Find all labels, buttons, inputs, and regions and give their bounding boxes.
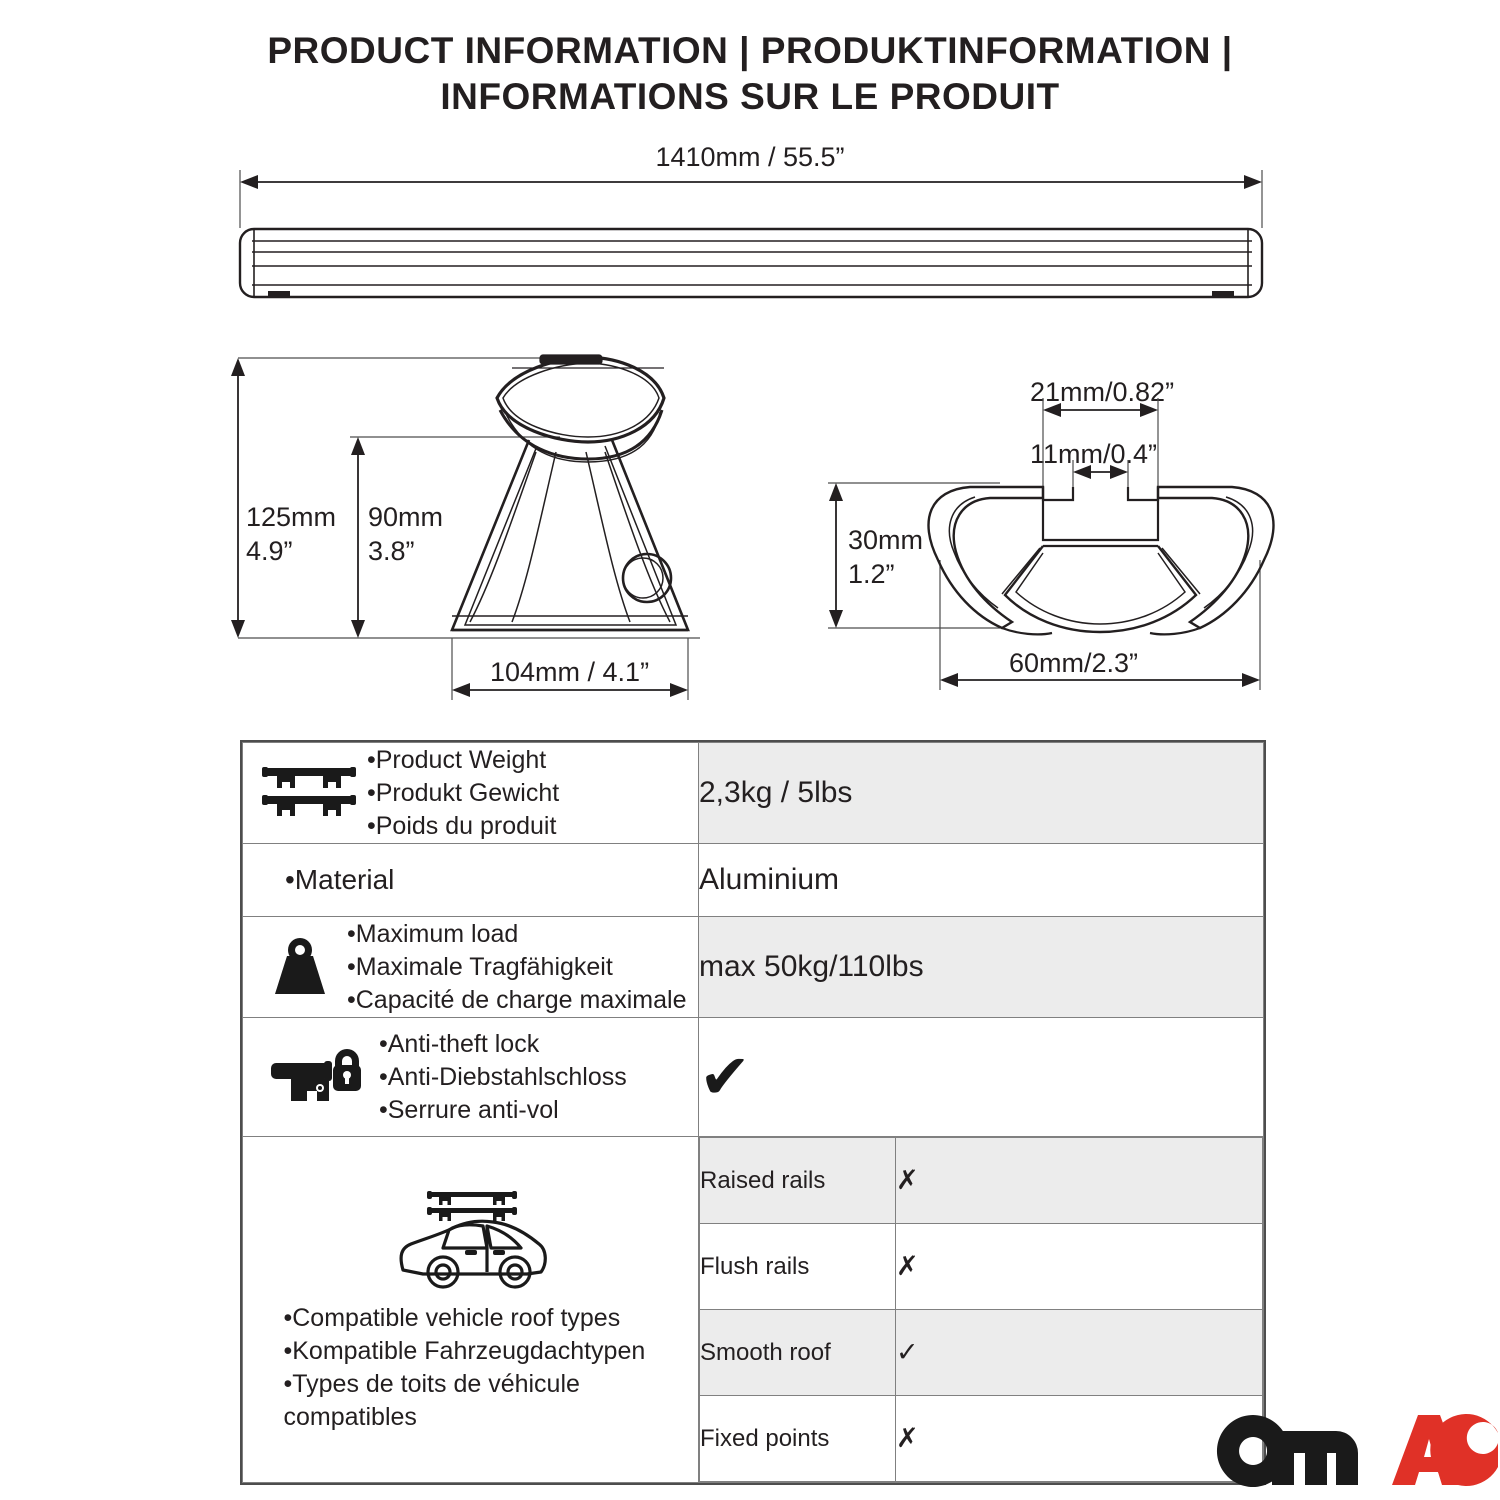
crossbars-icon [261,764,357,822]
page-title-line-2: INFORMATIONS SUR LE PRODUIT [0,74,1500,120]
roof-type-mark-smooth-roof: ✓ [896,1310,1263,1396]
crossbar-length-drawing [240,170,1262,297]
material-label-en: •Material [243,864,394,895]
cell-roof-types-label: •Compatible vehicle roof types •Kompatib… [243,1137,699,1483]
roof-types-label-de: •Kompatible Fahrzeugdachtypen [284,1335,674,1368]
dimension-label-bar-width: 60mm/2.3” [1009,646,1138,680]
cell-roof-types-matrix: Raised rails ✗ Flush rails ✗ Smooth roof… [699,1137,1264,1483]
lock-icon [269,1045,361,1109]
roof-type-label-raised-rails: Raised rails [700,1138,896,1224]
roof-type-mark-flush-rails: ✗ [896,1224,1263,1310]
roof-type-mark-fixed-points: ✗ [896,1396,1263,1482]
lock-label-en: •Anti-theft lock [379,1028,627,1061]
cell-material-value: Aluminium [699,844,1264,917]
roof-types-label-en: •Compatible vehicle roof types [284,1302,674,1335]
dim-125-mm: 125mm [246,502,336,532]
roof-type-label-fixed-points: Fixed points [700,1396,896,1482]
table-row-product-weight: •Product Weight •Produkt Gewicht •Poids … [243,743,1264,844]
car-roof-icon [387,1186,555,1298]
roof-type-row-flush-rails: Flush rails ✗ [700,1224,1263,1310]
table-row-anti-theft-lock: •Anti-theft lock •Anti-Diebstahlschloss … [243,1018,1264,1137]
max-load-label-de: •Maximale Tragfähigkeit [347,951,686,984]
max-load-value: max 50kg/110lbs [699,950,924,983]
weight-label-en: •Product Weight [367,744,559,777]
cell-max-load-label: •Maximum load •Maximale Tragfähigkeit •C… [243,917,699,1018]
roof-type-row-smooth-roof: Smooth roof ✓ [700,1310,1263,1396]
weight-value: 2,3kg / 5lbs [699,776,852,809]
weight-icon [267,936,333,998]
omac-logo [1216,1413,1498,1487]
dim-30-mm: 30mm [848,525,923,555]
page-title-line-1: PRODUCT INFORMATION | PRODUKTINFORMATION… [0,28,1500,74]
roof-type-mark-raised-rails: ✗ [896,1138,1263,1224]
cell-max-load-value: max 50kg/110lbs [699,917,1264,1018]
roof-type-row-fixed-points: Fixed points ✗ [700,1396,1263,1482]
dimension-label-tower-width: 104mm / 4.1” [490,655,649,689]
roof-type-row-raised-rails: Raised rails ✗ [700,1138,1263,1224]
dimension-label-slot-outer: 21mm/0.82” [1030,375,1174,409]
weight-label-de: •Produkt Gewicht [367,777,559,810]
cell-lock-value: ✔ [699,1018,1264,1137]
omac-logo-dark-mark [1217,1415,1358,1487]
roof-type-label-flush-rails: Flush rails [700,1224,896,1310]
specification-table: •Product Weight •Produkt Gewicht •Poids … [240,740,1266,1485]
page-title: PRODUCT INFORMATION | PRODUKTINFORMATION… [0,28,1500,120]
roof-types-label-fr: •Types de toits de véhicule compatibles [284,1368,674,1434]
omac-logo-accent-mark [1392,1414,1498,1486]
max-load-label-fr: •Capacité de charge maximale [347,984,686,1017]
dimension-label-tower-height-total: 125mm 4.9” [246,500,336,568]
lock-label-list: •Anti-theft lock •Anti-Diebstahlschloss … [379,1028,627,1127]
dimension-label-overall-length: 1410mm / 55.5” [0,140,1500,174]
roof-type-label-smooth-roof: Smooth roof [700,1310,896,1396]
dim-90-in: 3.8” [368,536,415,566]
material-value: Aluminium [699,863,839,896]
table-row-material: •Material Aluminium [243,844,1264,917]
dimension-label-slot-inner: 11mm/0.4” [1030,437,1157,471]
table-row-roof-types: •Compatible vehicle roof types •Kompatib… [243,1137,1264,1483]
dim-30-in: 1.2” [848,559,895,589]
cell-weight-label: •Product Weight •Produkt Gewicht •Poids … [243,743,699,844]
dimension-label-bar-height: 30mm 1.2” [848,523,923,591]
roof-types-table: Raised rails ✗ Flush rails ✗ Smooth roof… [699,1137,1263,1482]
product-information-sheet: PRODUCT INFORMATION | PRODUKTINFORMATION… [0,0,1500,1500]
table-row-max-load: •Maximum load •Maximale Tragfähigkeit •C… [243,917,1264,1018]
weight-label-fr: •Poids du produit [367,810,559,843]
weight-label-list: •Product Weight •Produkt Gewicht •Poids … [367,744,559,843]
lock-label-de: •Anti-Diebstahlschloss [379,1061,627,1094]
max-load-label-en: •Maximum load [347,918,686,951]
dimension-label-tower-height-inner: 90mm 3.8” [368,500,443,568]
roof-types-label-list: •Compatible vehicle roof types •Kompatib… [268,1302,674,1434]
lock-label-fr: •Serrure anti-vol [379,1094,627,1127]
max-load-label-list: •Maximum load •Maximale Tragfähigkeit •C… [347,918,686,1017]
dim-125-in: 4.9” [246,536,293,566]
cell-material-label: •Material [243,844,699,917]
cell-lock-label: •Anti-theft lock •Anti-Diebstahlschloss … [243,1018,699,1137]
dim-90-mm: 90mm [368,502,443,532]
cell-weight-value: 2,3kg / 5lbs [699,743,1264,844]
lock-check-mark: ✔ [699,1040,751,1113]
